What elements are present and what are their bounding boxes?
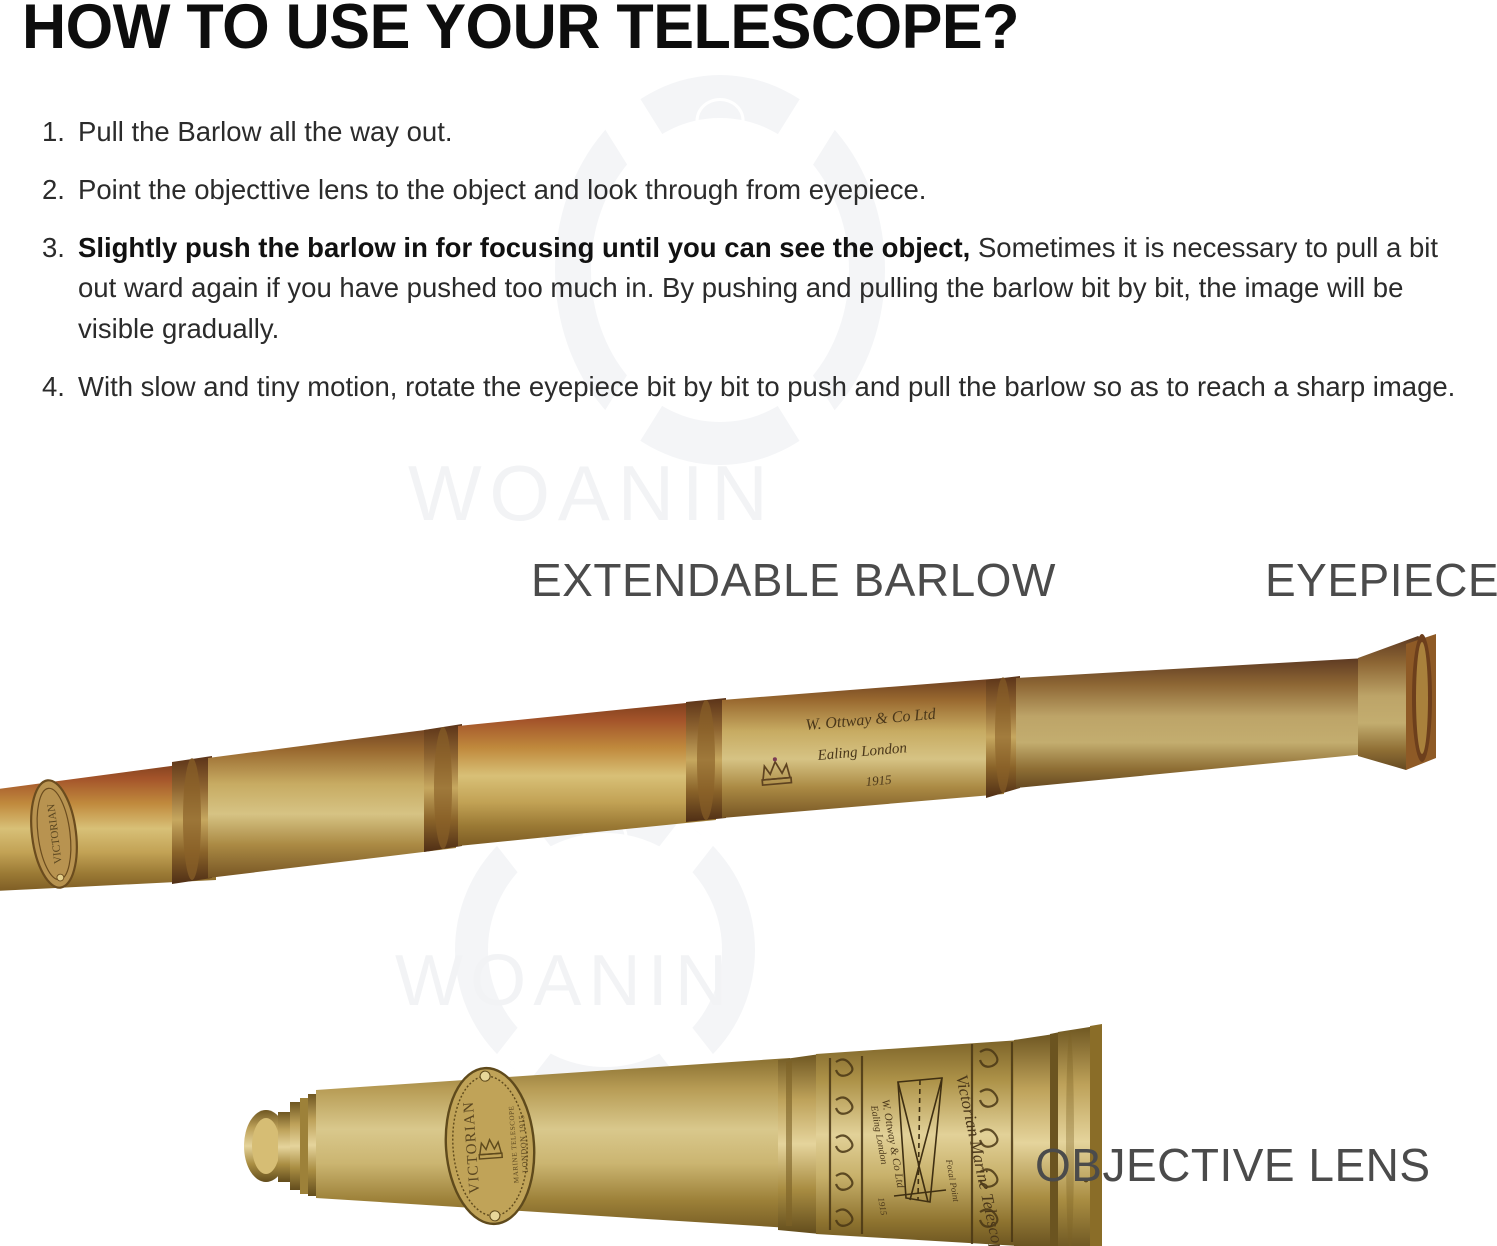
step-number: 2. — [42, 170, 78, 210]
barlow-ring-1 — [172, 756, 212, 884]
mid-band — [778, 1054, 820, 1234]
step-text-group: Slightly push the barlow in for focusing… — [78, 228, 1472, 348]
eyepiece-collar — [290, 1094, 318, 1196]
step-text: With slow and tiny motion, rotate the ey… — [78, 367, 1472, 407]
barlow-ring-4 — [986, 676, 1020, 798]
eyepiece-tube — [1016, 658, 1366, 788]
barlow-segment-3 — [458, 700, 716, 846]
step-emphasis: Slightly push the barlow in for focusing… — [78, 232, 970, 263]
barlow-segment-4-engraved: W. Ottway & Co Ltd Ealing London 1915 — [722, 678, 1004, 818]
step-text: Point the objecttive lens to the object … — [78, 170, 1472, 210]
page-title: HOW TO USE YOUR TELESCOPE? — [22, 0, 1019, 59]
label-extendable-barlow: EXTENDABLE BARLOW — [531, 553, 1056, 607]
engraving-year: 1915 — [865, 772, 893, 789]
step-number: 4. — [42, 367, 78, 407]
product-instruction-image: WOANIN WOANIN HOW TO USE YOUR TELESCOPE?… — [0, 0, 1497, 1246]
step-number: 1. — [42, 112, 78, 152]
instruction-step: 2. Point the objecttive lens to the obje… — [42, 170, 1472, 210]
step-text: Pull the Barlow all the way out. — [78, 112, 1472, 152]
instruction-step: 3. Slightly push the barlow in for focus… — [42, 228, 1472, 348]
objective-lens-end — [1014, 1024, 1102, 1246]
step-number: 3. — [42, 228, 78, 268]
brand-watermark-text: WOANIN — [408, 448, 775, 539]
barlow-segment-2 — [208, 726, 456, 878]
instruction-step: 4. With slow and tiny motion, rotate the… — [42, 367, 1472, 407]
engraved-objective-drum: Focal Point Victorian Marine Telescope W… — [816, 1040, 1020, 1246]
telescope-collapsed-photo: VICTORIAN MARINE TELESCOPE LONDON 1915 — [230, 1020, 1110, 1246]
label-eyepiece: EYEPIECE — [1265, 553, 1497, 607]
brand-watermark-text-secondary: WOANIN — [395, 940, 734, 1022]
barlow-ring-3 — [686, 698, 726, 822]
telescope-extended-svg: VICTORIAN — [0, 622, 1486, 932]
instruction-list: 1. Pull the Barlow all the way out. 2. P… — [42, 112, 1472, 425]
label-objective-lens: OBJECTIVE LENS — [1035, 1138, 1431, 1192]
instruction-step: 1. Pull the Barlow all the way out. — [42, 112, 1472, 152]
telescope-extended-photo: VICTORIAN — [0, 622, 1486, 932]
telescope-collapsed-svg: VICTORIAN MARINE TELESCOPE LONDON 1915 — [230, 1020, 1110, 1246]
eyepiece-bell — [1358, 634, 1436, 770]
eyepiece-cap — [244, 1110, 292, 1182]
telescope-body-plaque-section: VICTORIAN MARINE TELESCOPE LONDON 1915 — [316, 1058, 790, 1228]
barlow-ring-2 — [424, 724, 462, 852]
